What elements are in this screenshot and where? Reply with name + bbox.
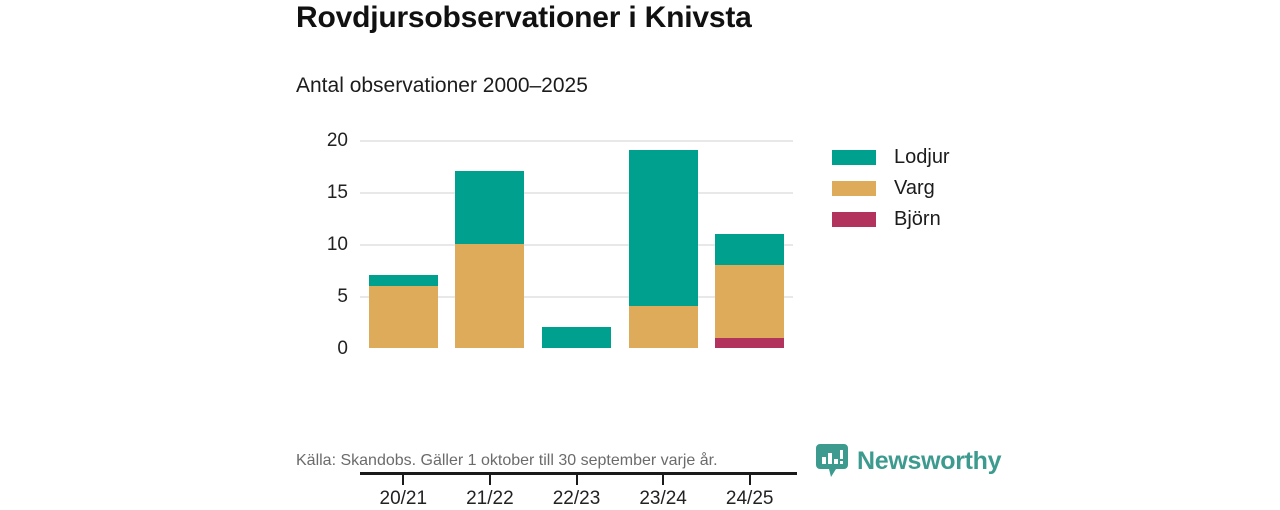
x-tick-mark bbox=[402, 475, 404, 485]
bar-segment[interactable] bbox=[715, 338, 784, 348]
legend-color-swatch bbox=[832, 181, 876, 196]
bars-layer bbox=[360, 140, 793, 348]
y-tick-label: 10 bbox=[302, 235, 348, 254]
page-title: Rovdjursobservationer i Knivsta bbox=[296, 0, 752, 36]
bar-group[interactable] bbox=[455, 140, 524, 348]
y-tick-label: 20 bbox=[302, 131, 348, 150]
x-tick-mark bbox=[749, 475, 751, 485]
legend-label: Björn bbox=[894, 208, 941, 231]
x-tick-label: 22/23 bbox=[527, 488, 627, 510]
legend-label: Lodjur bbox=[894, 146, 950, 169]
newsworthy-wordmark: Newsworthy bbox=[857, 447, 1001, 475]
bar-segment[interactable] bbox=[629, 150, 698, 306]
y-axis-labels: 05101520 bbox=[296, 126, 348, 366]
source-note: Källa: Skandobs. Gäller 1 oktober till 3… bbox=[296, 450, 718, 472]
bar-segment[interactable] bbox=[629, 306, 698, 348]
x-tick-label: 20/21 bbox=[353, 488, 453, 510]
chart-subtitle: Antal observationer 2000–2025 bbox=[296, 72, 588, 100]
newsworthy-bubble-chart-icon bbox=[816, 444, 848, 478]
y-tick-label: 0 bbox=[302, 339, 348, 358]
bar-group[interactable] bbox=[629, 140, 698, 348]
bar-segment[interactable] bbox=[715, 265, 784, 338]
bar-group[interactable] bbox=[542, 140, 611, 348]
bar-group[interactable] bbox=[369, 140, 438, 348]
bar-segment[interactable] bbox=[455, 171, 524, 244]
chart-page: Rovdjursobservationer i Knivsta Antal ob… bbox=[0, 0, 1280, 480]
x-tick-mark bbox=[576, 475, 578, 485]
bar-segment[interactable] bbox=[715, 234, 784, 265]
x-tick-label: 21/22 bbox=[440, 488, 540, 510]
chart-plot-wrapper: 05101520 20/2121/2222/2323/2424/25 bbox=[296, 126, 816, 386]
bar-segment[interactable] bbox=[369, 275, 438, 285]
x-tick-mark bbox=[662, 475, 664, 485]
bar-segment[interactable] bbox=[455, 244, 524, 348]
legend-color-swatch bbox=[832, 212, 876, 227]
legend-item[interactable]: Lodjur bbox=[832, 142, 950, 173]
bar-group[interactable] bbox=[715, 140, 784, 348]
bar-segment[interactable] bbox=[369, 286, 438, 348]
legend-item[interactable]: Björn bbox=[832, 204, 950, 235]
legend-label: Varg bbox=[894, 177, 935, 200]
x-tick-label: 24/25 bbox=[700, 488, 800, 510]
y-tick-label: 5 bbox=[302, 287, 348, 306]
x-axis-line bbox=[360, 472, 797, 475]
chart-legend: LodjurVargBjörn bbox=[832, 142, 950, 235]
newsworthy-brand: Newsworthy bbox=[816, 444, 1001, 478]
x-tick-mark bbox=[489, 475, 491, 485]
bar-segment[interactable] bbox=[542, 327, 611, 348]
x-tick-label: 23/24 bbox=[613, 488, 713, 510]
legend-color-swatch bbox=[832, 150, 876, 165]
y-tick-label: 15 bbox=[302, 183, 348, 202]
legend-item[interactable]: Varg bbox=[832, 173, 950, 204]
